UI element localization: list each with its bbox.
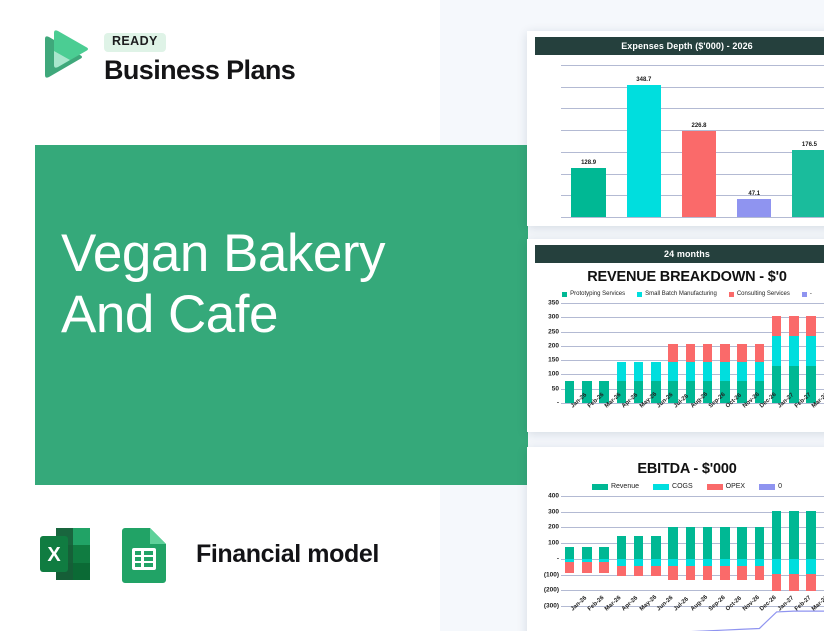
ebitda-positive-bars <box>561 496 824 559</box>
bar-segment[interactable] <box>806 511 816 559</box>
bar-group[interactable] <box>613 303 630 403</box>
stacked-bar[interactable] <box>789 316 799 403</box>
stacked-bar-negative[interactable] <box>668 559 678 580</box>
revenue-legend[interactable]: Prototyping ServicesSmall Batch Manufact… <box>527 291 824 297</box>
stacked-bar-negative[interactable] <box>720 559 730 580</box>
bar-segment[interactable] <box>651 362 661 382</box>
bar-segment[interactable] <box>755 527 765 559</box>
bar-segment[interactable] <box>686 527 696 559</box>
y-tick-label: (100) <box>544 571 559 578</box>
legend-label: COGS <box>672 483 693 490</box>
bar-group[interactable] <box>803 303 820 403</box>
y-tick-label: 200 <box>548 342 559 349</box>
stacked-bar-positive[interactable] <box>806 511 816 559</box>
bar-group[interactable] <box>785 303 802 403</box>
poster-canvas: READY Business Plans Vegan Bakery And Ca… <box>0 0 824 631</box>
x-tick: Jan-26 <box>561 606 578 631</box>
legend-swatch-icon <box>653 484 669 490</box>
x-tick: Mar-27 <box>803 606 820 631</box>
bar-group[interactable] <box>768 496 785 559</box>
legend-item[interactable]: Consulting Services <box>729 291 790 297</box>
bar-group[interactable] <box>751 496 768 559</box>
stacked-bar-negative[interactable] <box>686 559 696 580</box>
bar-segment[interactable] <box>599 547 609 559</box>
bar-segment[interactable] <box>737 559 747 567</box>
bar-segment[interactable] <box>789 574 799 591</box>
bar-segment[interactable] <box>703 344 713 361</box>
bar[interactable]: 47.1 <box>737 199 771 217</box>
bar-segment[interactable] <box>617 559 627 567</box>
bar-group[interactable] <box>665 496 682 559</box>
bar-segment[interactable] <box>703 566 713 579</box>
x-tick: Jan-27 <box>768 403 785 432</box>
stacked-bar-positive[interactable] <box>720 527 730 559</box>
bar-value-label: 226.8 <box>691 123 706 129</box>
stacked-bar-negative[interactable] <box>737 559 747 580</box>
x-tick: May-26 <box>630 606 647 631</box>
bar[interactable]: 176.5 <box>792 150 824 217</box>
revenue-breakdown-plot: 35030025020015010050- Jan-26Feb-26Mar-26… <box>531 303 824 403</box>
bar-segment[interactable] <box>686 362 696 382</box>
bar-group[interactable]: 128.9 <box>561 65 616 217</box>
legend-swatch-icon <box>759 484 775 490</box>
stacked-bar-positive[interactable] <box>772 511 782 559</box>
microsoft-excel-icon: X <box>34 522 98 586</box>
bar-group[interactable] <box>561 303 578 403</box>
stacked-bar-positive[interactable] <box>582 547 592 559</box>
stacked-bar-positive[interactable] <box>599 547 609 559</box>
x-tick: Sep-26 <box>699 403 716 432</box>
bar-group[interactable]: 348.7 <box>616 65 671 217</box>
bar-value-label: 47.1 <box>748 191 760 197</box>
bar-group[interactable] <box>716 303 733 403</box>
bar-segment[interactable] <box>617 566 627 576</box>
x-tick: Jan-27 <box>768 606 785 631</box>
bar-segment[interactable] <box>703 527 713 559</box>
bar-group[interactable] <box>578 496 595 559</box>
stacked-bar-negative[interactable] <box>651 559 661 576</box>
bar-segment[interactable] <box>806 316 816 336</box>
bar-segment[interactable] <box>634 566 644 576</box>
legend-item[interactable]: OPEX <box>707 483 745 490</box>
bar-segment[interactable] <box>703 362 713 382</box>
x-tick: Sep-26 <box>699 606 716 631</box>
bar-group[interactable] <box>699 496 716 559</box>
x-tick: Feb-26 <box>578 606 595 631</box>
bar-group[interactable] <box>820 303 824 403</box>
x-tick: Aug-26 <box>682 606 699 631</box>
bar-segment[interactable] <box>668 559 678 567</box>
legend-swatch-icon <box>729 292 734 297</box>
bar-group[interactable]: 47.1 <box>727 65 782 217</box>
bar-group[interactable] <box>596 303 613 403</box>
y-tick-label: 400 <box>548 493 559 500</box>
bar-group[interactable] <box>647 496 664 559</box>
page-title: Vegan Bakery And Cafe <box>61 223 491 346</box>
stacked-bar-negative[interactable] <box>755 559 765 580</box>
x-tick: Nov-26 <box>734 403 751 432</box>
legend-label: Prototyping Services <box>570 291 625 297</box>
play-triangle-logo-icon <box>28 26 90 88</box>
brand-logo: READY Business Plans <box>28 26 295 88</box>
stacked-bar-negative[interactable] <box>617 559 627 576</box>
y-tick-label: 300 <box>548 314 559 321</box>
legend-item[interactable]: - <box>802 291 812 297</box>
x-tick: Jun-26 <box>647 606 664 631</box>
y-tick-label: 250 <box>548 328 559 335</box>
ebitda-x-axis-labels: Jan-26Feb-26Mar-26Apr-26May-26Jun-26Jul-… <box>561 606 824 631</box>
bar-group[interactable]: 176.5 <box>782 65 824 217</box>
bar-group[interactable]: 226.8 <box>671 65 726 217</box>
bar-group[interactable] <box>716 496 733 559</box>
x-tick: May-26 <box>630 403 647 432</box>
x-tick: Jan-26 <box>561 403 578 432</box>
bar[interactable]: 226.8 <box>682 131 716 217</box>
bar-group[interactable] <box>734 303 751 403</box>
ebitda-chart-title: EBITDA - $'000 <box>527 461 824 477</box>
chart-card-revenue-breakdown[interactable]: 24 months REVENUE BREAKDOWN - $'0 Protot… <box>527 239 824 432</box>
footer-label: Financial model <box>196 540 379 569</box>
legend-label: - <box>810 291 812 297</box>
y-tick-label: 100 <box>548 540 559 547</box>
legend-swatch-icon <box>802 292 807 297</box>
y-tick-label: (300) <box>544 603 559 610</box>
x-tick: Feb-26 <box>578 403 595 432</box>
bar-group[interactable] <box>630 303 647 403</box>
legend-item[interactable]: Small Batch Manufacturing <box>637 291 717 297</box>
x-tick: Mar-26 <box>596 403 613 432</box>
x-tick: Apr-27 <box>820 606 824 631</box>
bar-segment[interactable] <box>772 559 782 574</box>
brand-text: READY Business Plans <box>104 30 295 84</box>
y-tick-label: 350 <box>548 300 559 307</box>
revenue-y-axis-labels: 35030025020015010050- <box>531 303 561 403</box>
bar-segment[interactable] <box>634 536 644 559</box>
bar-segment[interactable] <box>668 362 678 382</box>
bar-segment[interactable] <box>789 559 799 574</box>
legend-swatch-icon <box>592 484 608 490</box>
x-tick: Oct-26 <box>716 403 733 432</box>
bar-segment[interactable] <box>634 559 644 567</box>
bar-segment[interactable] <box>668 566 678 579</box>
stacked-bar-positive[interactable] <box>755 527 765 559</box>
bar-segment[interactable] <box>651 559 661 567</box>
bar-segment[interactable] <box>789 316 799 336</box>
x-tick: Feb-27 <box>785 403 802 432</box>
bar-group-negative[interactable] <box>561 559 578 606</box>
x-tick: Apr-26 <box>613 403 630 432</box>
bar-segment[interactable] <box>772 336 782 366</box>
x-tick: Dec-26 <box>751 403 768 432</box>
bar-segment[interactable] <box>789 511 799 559</box>
bar[interactable]: 128.9 <box>571 168 605 217</box>
stacked-bar-positive[interactable] <box>565 547 575 559</box>
bar-segment[interactable] <box>806 574 816 591</box>
bar-segment[interactable] <box>617 536 627 559</box>
stacked-bar-positive[interactable] <box>737 527 747 559</box>
stacked-bar-positive[interactable] <box>789 511 799 559</box>
y-tick-label: 150 <box>548 357 559 364</box>
bar-group[interactable] <box>768 303 785 403</box>
bar-segment[interactable] <box>668 344 678 361</box>
stacked-bar-negative[interactable] <box>599 559 609 573</box>
y-tick-label: 200 <box>548 524 559 531</box>
bar-group[interactable] <box>561 496 578 559</box>
bar-segment[interactable] <box>703 559 713 567</box>
stacked-bar[interactable] <box>772 316 782 403</box>
stacked-bar-negative[interactable] <box>789 559 799 591</box>
bar-segment[interactable] <box>737 362 747 382</box>
legend-item[interactable]: 0 <box>759 483 782 490</box>
x-tick: Aug-26 <box>682 403 699 432</box>
ebitda-legend[interactable]: RevenueCOGSOPEX0 <box>527 483 824 490</box>
x-tick: Oct-26 <box>716 606 733 631</box>
x-tick: Apr-26 <box>613 606 630 631</box>
bar-segment[interactable] <box>720 362 730 382</box>
bar-segment[interactable] <box>634 362 644 382</box>
stacked-bar-positive[interactable] <box>668 527 678 559</box>
revenue-bars <box>561 303 824 403</box>
bar-segment[interactable] <box>772 511 782 559</box>
bar-group[interactable] <box>682 303 699 403</box>
x-tick: Feb-27 <box>785 606 802 631</box>
bar-group[interactable] <box>699 303 716 403</box>
x-tick: Dec-26 <box>751 606 768 631</box>
bar-segment[interactable] <box>755 362 765 382</box>
bar-value-label: 176.5 <box>802 142 817 148</box>
bar-segment[interactable] <box>651 566 661 576</box>
stacked-bar[interactable] <box>806 316 816 403</box>
bar-segment[interactable] <box>755 566 765 579</box>
footer-row: X Financial model <box>34 522 379 586</box>
bar-segment[interactable] <box>668 527 678 559</box>
bar-segment[interactable] <box>565 547 575 559</box>
brand-name: Business Plans <box>104 57 295 84</box>
legend-label: 0 <box>778 483 782 490</box>
expenses-bars: 128.9348.7226.847.1176.5 <box>561 65 824 217</box>
y-tick-label: (200) <box>544 587 559 594</box>
stacked-bar-negative[interactable] <box>772 559 782 591</box>
google-sheets-icon <box>114 522 174 586</box>
bar-segment[interactable] <box>617 362 627 382</box>
ready-badge: READY <box>104 33 166 52</box>
bar-segment[interactable] <box>806 336 816 366</box>
legend-label: Consulting Services <box>737 291 790 297</box>
bar-segment[interactable] <box>772 574 782 591</box>
bar-segment[interactable] <box>720 559 730 567</box>
legend-swatch-icon <box>707 484 723 490</box>
bar-value-label: 128.9 <box>581 160 596 166</box>
stacked-bar-positive[interactable] <box>703 527 713 559</box>
bar-segment[interactable] <box>720 566 730 579</box>
stacked-bar-negative[interactable] <box>582 559 592 573</box>
stacked-bar-positive[interactable] <box>634 536 644 559</box>
y-tick-label: - <box>557 400 559 407</box>
stacked-bar-negative[interactable] <box>565 559 575 573</box>
bar-segment[interactable] <box>582 547 592 559</box>
bar-group[interactable] <box>734 496 751 559</box>
bar-group[interactable] <box>596 496 613 559</box>
bar-segment[interactable] <box>737 527 747 559</box>
bar-segment[interactable] <box>651 536 661 559</box>
ebitda-plot: 400300200100-(100)(200)(300) Jan-26Feb-2… <box>531 496 824 606</box>
bar-group[interactable] <box>665 303 682 403</box>
bar-segment[interactable] <box>737 566 747 579</box>
bar-segment[interactable] <box>686 566 696 579</box>
ebitda-y-axis-labels: 400300200100-(100)(200)(300) <box>531 496 561 606</box>
x-tick: Jul-26 <box>665 606 682 631</box>
bar-group[interactable] <box>682 496 699 559</box>
legend-item[interactable]: Revenue <box>592 483 639 490</box>
y-tick-label: 100 <box>548 371 559 378</box>
bar-segment[interactable] <box>806 559 816 574</box>
hero-banner: Vegan Bakery And Cafe <box>35 145 528 485</box>
legend-swatch-icon <box>562 292 567 297</box>
y-tick-label: 300 <box>548 508 559 515</box>
bar-segment[interactable] <box>582 562 592 573</box>
legend-label: Small Batch Manufacturing <box>645 291 717 297</box>
bar-group[interactable] <box>751 303 768 403</box>
chart-card-ebitda[interactable]: EBITDA - $'000 RevenueCOGSOPEX0 40030020… <box>527 447 824 631</box>
gridline <box>561 217 824 218</box>
revenue-chart-title: REVENUE BREAKDOWN - $'0 <box>527 269 824 285</box>
legend-item[interactable]: COGS <box>653 483 693 490</box>
stacked-bar-negative[interactable] <box>806 559 816 591</box>
svg-text:X: X <box>47 544 61 566</box>
stacked-bar[interactable] <box>565 381 575 403</box>
bar-value-label: 348.7 <box>636 77 651 83</box>
bar-segment[interactable] <box>720 344 730 361</box>
y-tick-label: 50 <box>552 385 559 392</box>
chart-card-expenses-depth[interactable]: Expenses Depth ($'000) - 2026 128.9348.7… <box>527 31 824 226</box>
chart-ribbon-24-months: 24 months <box>535 245 824 263</box>
legend-item[interactable]: Prototyping Services <box>562 291 625 297</box>
legend-label: OPEX <box>726 483 745 490</box>
x-tick: Nov-26 <box>734 606 751 631</box>
x-tick: Mar-26 <box>596 606 613 631</box>
bar-segment[interactable] <box>755 559 765 567</box>
bar-group[interactable] <box>820 496 824 559</box>
bar-segment[interactable] <box>565 381 575 403</box>
bar-group[interactable] <box>613 496 630 559</box>
x-tick: Jun-26 <box>647 403 664 432</box>
bar-group[interactable] <box>647 303 664 403</box>
bar[interactable]: 348.7 <box>627 85 661 218</box>
x-tick: Mar-27 <box>803 403 820 432</box>
x-tick: Jul-26 <box>665 403 682 432</box>
legend-label: Revenue <box>611 483 639 490</box>
bar-segment[interactable] <box>686 559 696 567</box>
bar-group[interactable] <box>785 496 802 559</box>
legend-swatch-icon <box>637 292 642 297</box>
bar-segment[interactable] <box>720 527 730 559</box>
x-tick: Apr-27 <box>820 403 824 432</box>
bar-segment[interactable] <box>789 336 799 366</box>
bar-segment[interactable] <box>686 344 696 361</box>
stacked-bar-negative[interactable] <box>634 559 644 576</box>
bar-segment[interactable] <box>772 316 782 336</box>
bar-segment[interactable] <box>755 344 765 361</box>
bar-segment[interactable] <box>737 344 747 361</box>
stacked-bar-negative[interactable] <box>703 559 713 580</box>
bar-group[interactable] <box>578 303 595 403</box>
expenses-depth-plot: 128.9348.7226.847.1176.5 <box>531 65 824 217</box>
stacked-bar-positive[interactable] <box>651 536 661 559</box>
stacked-bar-positive[interactable] <box>617 536 627 559</box>
y-tick-label: - <box>557 555 559 562</box>
revenue-x-axis-labels: Jan-26Feb-26Mar-26Apr-26May-26Jun-26Jul-… <box>561 403 824 432</box>
stacked-bar-positive[interactable] <box>686 527 696 559</box>
bar-group[interactable] <box>630 496 647 559</box>
bar-group[interactable] <box>803 496 820 559</box>
bar-segment[interactable] <box>565 562 575 573</box>
bar-segment[interactable] <box>599 562 609 573</box>
chart-ribbon-expenses: Expenses Depth ($'000) - 2026 <box>535 37 824 55</box>
